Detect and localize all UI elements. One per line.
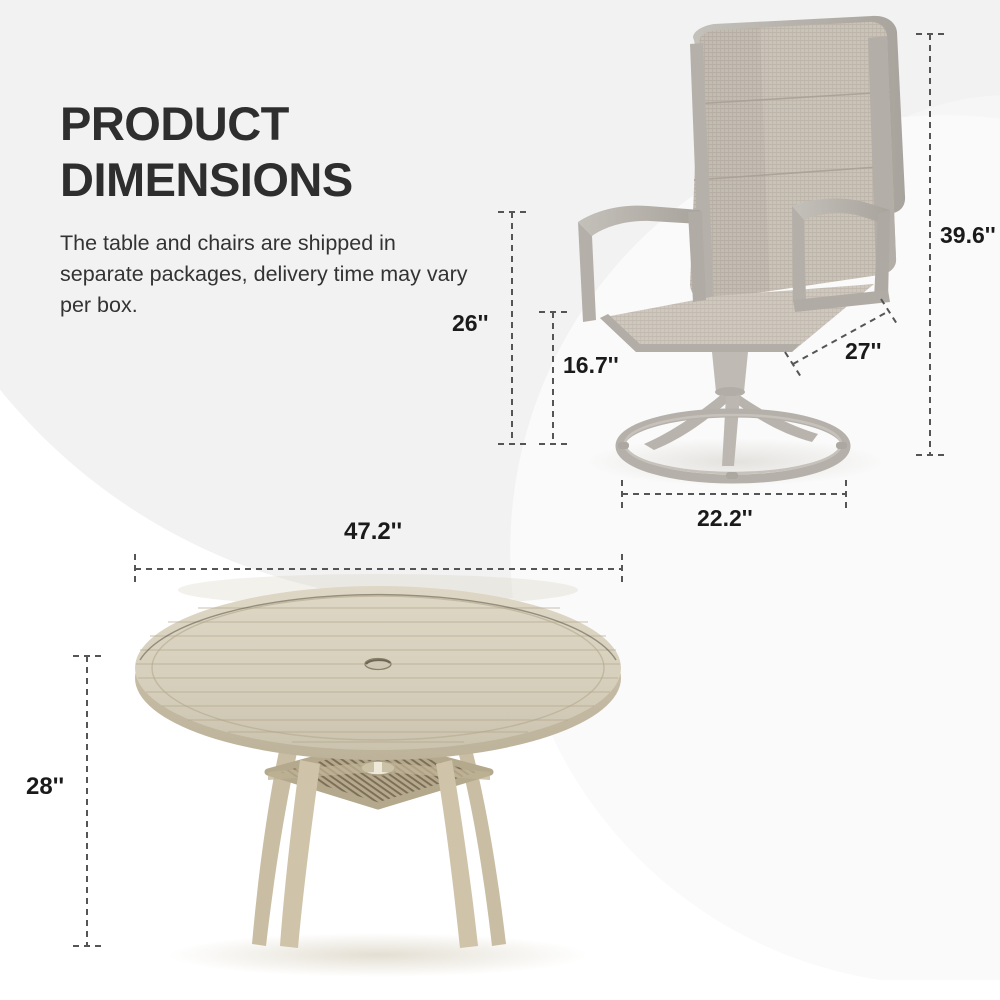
dimcap-chair-depth-near bbox=[785, 352, 801, 377]
page-title-line-2: DIMENSIONS bbox=[60, 153, 353, 206]
page-subtitle: The table and chairs are shipped in sepa… bbox=[60, 228, 480, 321]
dimension-label-table-diameter: 47.2'' bbox=[344, 518, 402, 546]
dimcap-chair-depth-far bbox=[881, 299, 897, 324]
dimension-label-chair-seat-height: 26'' bbox=[452, 310, 489, 337]
dimension-label-chair-width: 22.2'' bbox=[697, 505, 753, 532]
intro-text-block: PRODUCT DIMENSIONS The table and chairs … bbox=[60, 96, 480, 321]
dimension-label-table-height: 28'' bbox=[26, 773, 64, 801]
page-title-line-1: PRODUCT bbox=[60, 97, 289, 150]
dimension-label-chair-total-height: 39.6'' bbox=[940, 222, 996, 249]
page-title: PRODUCT DIMENSIONS bbox=[60, 96, 480, 208]
product-dimensions-infographic: PRODUCT DIMENSIONS The table and chairs … bbox=[0, 0, 1000, 1000]
dimension-label-chair-seat-depth-height: 16.7'' bbox=[563, 352, 619, 379]
dimension-label-chair-depth: 27'' bbox=[845, 338, 882, 365]
